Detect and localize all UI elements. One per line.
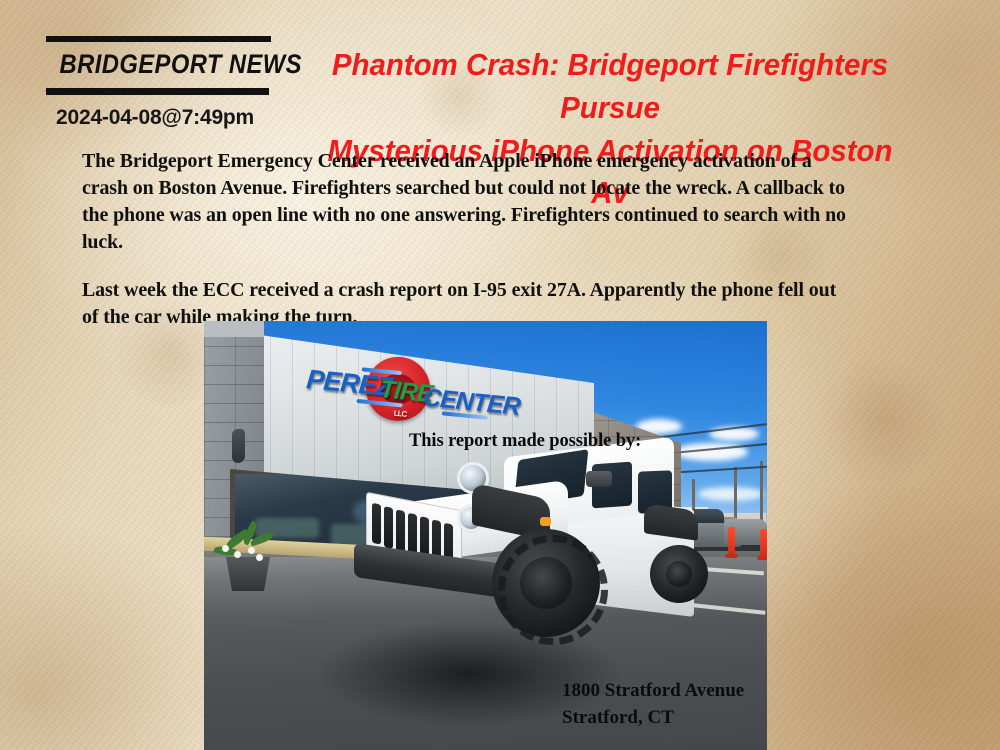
sponsor-address-line-2: Stratford, CT <box>562 705 744 732</box>
cloud <box>698 487 764 501</box>
sign-word-llc: LLC <box>393 409 406 419</box>
masthead-brand-title: BRIDGEPORT NEWS <box>60 42 258 88</box>
article-body: The Bridgeport Emergency Center received… <box>82 148 848 331</box>
building-parapet <box>204 321 264 337</box>
wall-light-fixture <box>232 428 245 463</box>
white-jeep-wrangler <box>354 441 654 611</box>
article-paragraph-1: The Bridgeport Emergency Center received… <box>82 148 848 256</box>
timestamp: 2024-04-08@7:49pm <box>56 106 254 130</box>
traffic-cone-base <box>757 556 767 560</box>
news-card-page: BRIDGEPORT NEWS 2024-04-08@7:49pm Phanto… <box>0 0 1000 750</box>
sponsor-address-line-1: 1800 Stratford Avenue <box>562 678 744 705</box>
sponsor-caption: This report made possible by: <box>409 431 641 452</box>
sponsor-address: 1800 Stratford Avenue Stratford, CT <box>562 678 744 732</box>
headline-line-1: Phantom Crash: Bridgeport Firefighters P… <box>316 44 905 130</box>
jeep-side-mirror <box>586 471 612 487</box>
jeep-front-tire <box>492 529 600 637</box>
jeep-side-marker-light <box>540 517 551 526</box>
masthead-rule-bottom <box>46 88 269 95</box>
sponsor-photograph: PEREZ TIRE CENTER LLC <box>204 321 767 750</box>
jeep-rear-tire <box>650 545 708 603</box>
traffic-cone <box>728 527 735 555</box>
flower-bloom <box>234 551 241 558</box>
traffic-cone-base <box>725 554 738 558</box>
flower-bloom <box>222 545 229 552</box>
flower-bloom <box>248 547 255 554</box>
masthead: BRIDGEPORT NEWS <box>46 36 271 95</box>
flower-bloom <box>256 554 263 561</box>
traffic-cone <box>760 529 767 557</box>
